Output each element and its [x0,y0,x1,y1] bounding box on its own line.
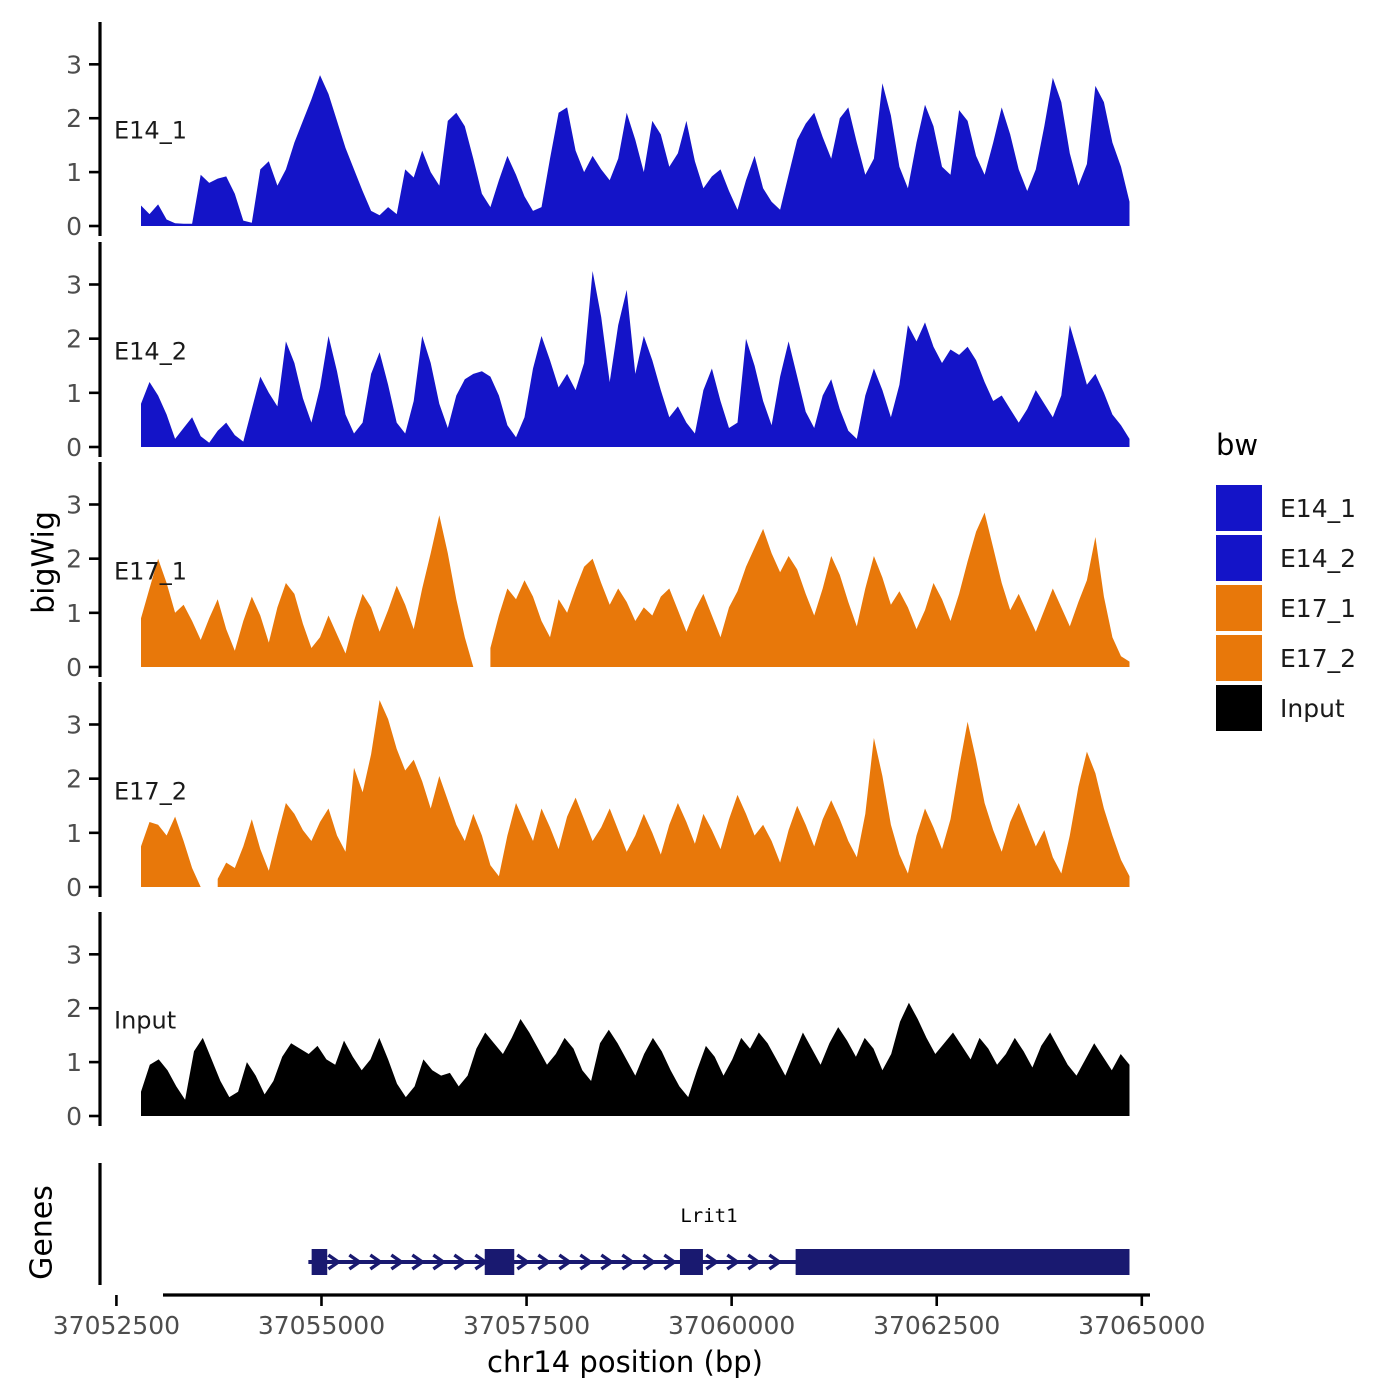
legend-label-E14_2: E14_2 [1280,544,1356,573]
track-label-E17_2: E17_2 [114,777,187,805]
y-tick-label-E17_1-1: 1 [66,599,82,628]
y-tick-label-E17_2-1: 1 [66,819,82,848]
y-tick-label-E14_2-3: 3 [66,271,82,300]
x-tick-label-37065000: 37065000 [1078,1311,1205,1340]
y-tick-label-E14_2-2: 2 [66,325,82,354]
y-tick-label-Input-0: 0 [66,1102,82,1131]
x-tick-label-37060000: 37060000 [668,1311,795,1340]
gene-exon-3[interactable] [680,1249,703,1275]
x-tick-label-37055000: 37055000 [258,1311,385,1340]
y-tick-label-E17_1-2: 2 [66,545,82,574]
legend-swatch-E14_2[interactable] [1216,535,1262,581]
gene-exon-2[interactable] [485,1249,515,1275]
y-tick-label-E14_2-0: 0 [66,433,82,462]
legend-swatch-E17_2[interactable] [1216,635,1262,681]
y-tick-label-E14_1-1: 1 [66,158,82,187]
y-tick-label-Input-2: 2 [66,994,82,1023]
figure-canvas: 0123E14_10123E14_20123E17_10123E17_20123… [0,0,1400,1400]
y-tick-label-E14_1-2: 2 [66,104,82,133]
track-label-E14_1: E14_1 [114,117,187,145]
gene-exon-1[interactable] [312,1249,328,1275]
legend-label-Input: Input [1280,694,1345,723]
track-label-E14_2: E14_2 [114,337,187,365]
legend-swatch-E17_1[interactable] [1216,585,1262,631]
y-tick-label-E14_1-0: 0 [66,212,82,241]
y-tick-label-E17_2-0: 0 [66,873,82,902]
coverage-track-E14_1[interactable] [141,75,1130,226]
legend-label-E17_1: E17_1 [1280,594,1356,623]
gene-name-label: Lrit1 [680,1205,737,1227]
y-tick-label-E14_2-1: 1 [66,379,82,408]
legend-title: bw [1216,428,1258,462]
y-tick-label-E14_1-3: 3 [66,50,82,79]
genome-browser-figure: bigWig Genes chr14 position (bp) 0123E14… [0,0,1400,1400]
track-label-E17_1: E17_1 [114,557,187,585]
y-tick-label-Input-1: 1 [66,1048,82,1077]
legend-label-E17_2: E17_2 [1280,644,1356,673]
coverage-track-E17_1[interactable] [141,513,1130,667]
coverage-track-Input[interactable] [141,1003,1130,1116]
legend-swatch-Input[interactable] [1216,685,1262,731]
x-tick-label-37057500: 37057500 [463,1311,590,1340]
legend-swatch-E14_1[interactable] [1216,485,1262,531]
track-label-Input: Input [114,1007,176,1035]
coverage-track-E14_2[interactable] [141,271,1130,447]
y-tick-label-E17_1-0: 0 [66,653,82,682]
x-tick-label-37062500: 37062500 [873,1311,1000,1340]
y-tick-label-E17_2-3: 3 [66,711,82,740]
y-tick-label-E17_2-2: 2 [66,765,82,794]
coverage-track-E17_2[interactable] [141,700,1130,887]
legend-label-E14_1: E14_1 [1280,494,1356,523]
x-tick-label-37052500: 37052500 [53,1311,180,1340]
y-tick-label-Input-3: 3 [66,940,82,969]
gene-exon-4[interactable] [796,1249,1130,1275]
y-tick-label-E17_1-3: 3 [66,491,82,520]
